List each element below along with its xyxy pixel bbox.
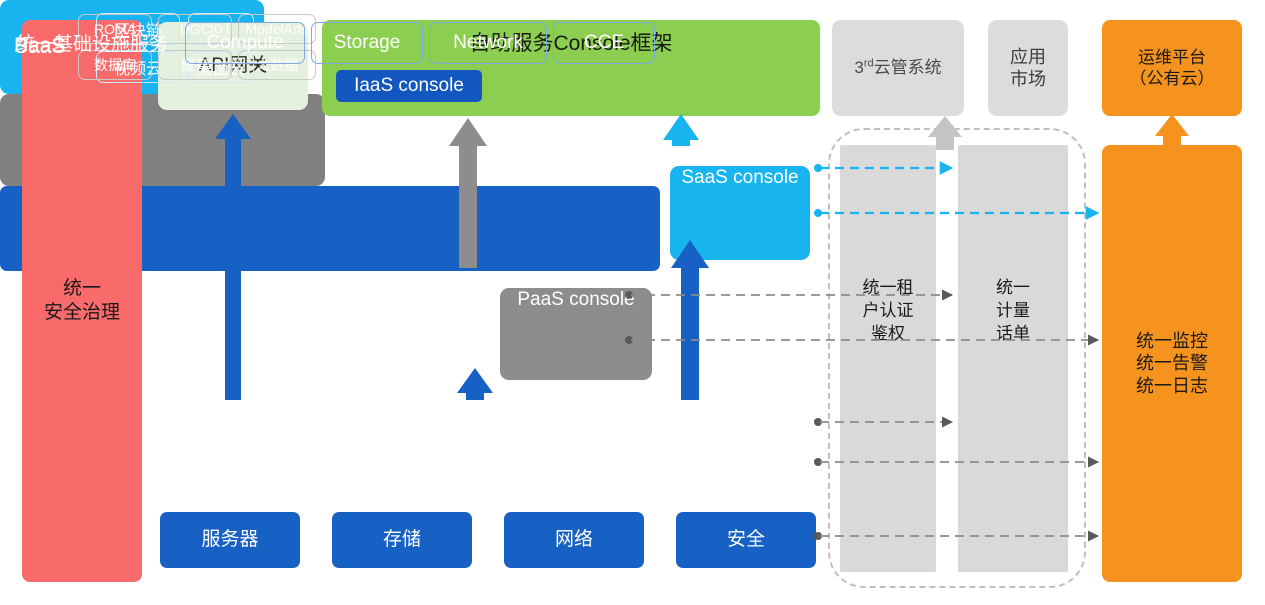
unified-security-governance-panel: 统一 安全治理 (22, 20, 142, 582)
ops-top-line-1: 运维平台 (1138, 48, 1206, 67)
architecture-diagram: 统一 安全治理 API网关 自助服务Console框架 IaaS console… (0, 0, 1265, 605)
unified-tenant-auth-label: 统一租 户认证 鉴权 (840, 277, 936, 346)
third-party-cloud-management-box: 3rd云管系统 (832, 20, 964, 116)
ops-side-line-1: 统一监控 (1136, 331, 1208, 351)
app-market-line-2: 市场 (1010, 69, 1046, 89)
app-market-box: 应用 市场 (988, 20, 1068, 116)
app-market-line-1: 应用 (1010, 47, 1046, 67)
infra-service-network[interactable]: Network (429, 22, 547, 64)
ops-side-line-3: 统一日志 (1136, 376, 1208, 396)
tenant-auth-line-2: 户认证 (863, 301, 914, 320)
infra-service-compute[interactable]: Compute (185, 22, 305, 64)
arrow-saas-to-console (663, 114, 699, 146)
iaas-console-chip[interactable]: IaaS console (336, 70, 482, 102)
third-cloud-superscript: rd (864, 58, 874, 70)
ops-side-line-2: 统一告警 (1136, 353, 1208, 373)
arrow-infra-to-paas (457, 368, 493, 400)
metering-line-1: 统一 (996, 278, 1030, 297)
arrow-infra-to-saas (671, 240, 709, 400)
third-cloud-prefix: 3 (854, 58, 863, 77)
metering-line-2: 计量 (996, 301, 1030, 320)
resource-tile-security[interactable]: 安全 (676, 512, 816, 568)
resource-tile-network[interactable]: 网络 (504, 512, 644, 568)
unified-tenant-auth-column (840, 145, 936, 572)
unified-metering-label: 统一 计量 话单 (958, 277, 1068, 346)
infra-service-storage[interactable]: Storage (311, 22, 423, 64)
tenant-auth-line-3: 鉴权 (871, 324, 905, 343)
third-cloud-suffix: 云管系统 (874, 58, 942, 77)
governance-line-2: 安全治理 (44, 302, 120, 323)
resource-tile-server[interactable]: 服务器 (160, 512, 300, 568)
infra-label: 统一基础设施服务 (16, 0, 168, 85)
saas-console-chip[interactable]: SaaS console (670, 166, 810, 260)
governance-line-1: 统一 (63, 278, 101, 299)
tenant-auth-line-1: 统一租 (863, 278, 914, 297)
ops-top-line-2: （公有云） (1130, 69, 1215, 88)
infra-service-cce[interactable]: CCE (553, 22, 655, 64)
resource-tile-storage[interactable]: 存储 (332, 512, 472, 568)
unified-metering-column (958, 145, 1068, 572)
ops-platform-public-cloud-box: 运维平台 （公有云） (1102, 20, 1242, 116)
arrow-to-ops-platform (1155, 114, 1189, 148)
metering-line-3: 话单 (996, 324, 1030, 343)
paas-console-chip[interactable]: PaaS console (500, 288, 652, 380)
unified-monitoring-panel: 统一监控 统一告警 统一日志 (1102, 145, 1242, 582)
